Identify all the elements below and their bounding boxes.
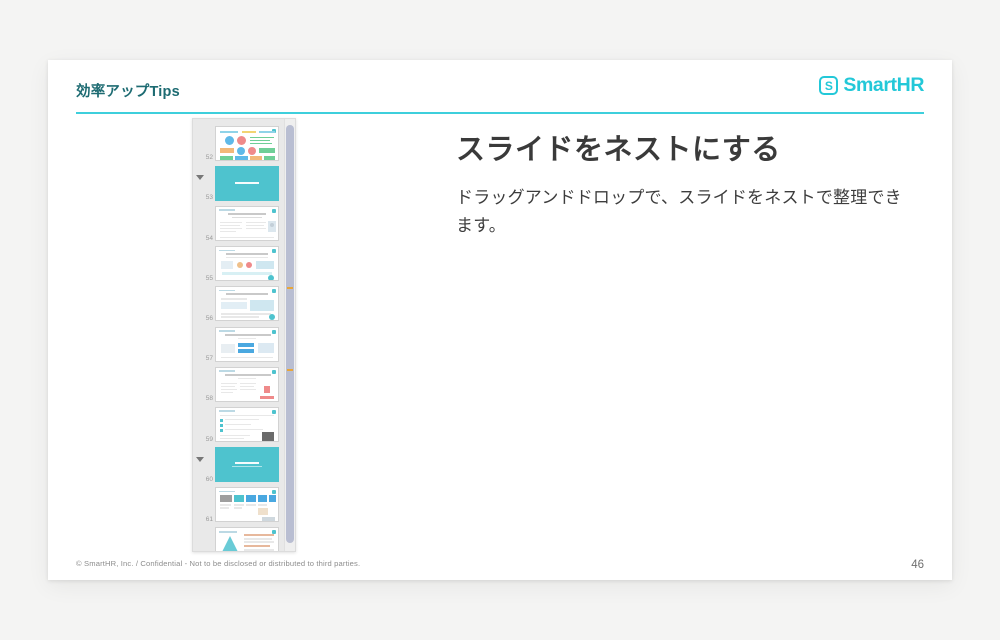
section-title-bar (235, 462, 259, 464)
slide-number: 55 (206, 275, 213, 282)
thumbnail-gutter: 61 (193, 485, 215, 525)
header-divider (76, 112, 924, 114)
thumb-corner-icon (272, 330, 276, 334)
thumbnail-gutter: 62 (193, 525, 215, 552)
slide-header: 効率アップTips S SmartHR (76, 72, 924, 114)
list-item[interactable]: 60 (193, 445, 285, 485)
content-heading: スライドをネストにする (456, 132, 908, 168)
slide-card: 効率アップTips S SmartHR 52 (48, 60, 952, 580)
scroll-marker (287, 369, 293, 371)
slide-thumbnail-section[interactable] (215, 166, 279, 201)
slide-thumbnail[interactable] (215, 487, 279, 522)
slide-number: 57 (206, 355, 213, 362)
footer-page-number: 46 (911, 559, 924, 571)
content-column: スライドをネストにする ドラッグアンドドロップで、スライドをネストで整理できます… (456, 132, 908, 241)
section-title-bar (235, 182, 259, 184)
list-item[interactable]: 54 (193, 203, 285, 243)
scrollbar-track[interactable] (284, 119, 295, 551)
thumbnail-gutter: 59 (193, 404, 215, 444)
slide-number: 56 (206, 315, 213, 322)
list-item[interactable]: 56 (193, 284, 285, 324)
smarthr-logo: S SmartHR (819, 76, 924, 96)
slide-thumbnail[interactable] (215, 527, 279, 552)
slide-thumbnail[interactable] (215, 286, 279, 321)
slide-thumbnail-section[interactable] (215, 447, 279, 482)
slide-number: 60 (206, 476, 213, 483)
thumbnail-gutter: 60 (193, 445, 215, 485)
thumb-corner-icon (272, 249, 276, 253)
slide-thumbnail[interactable] (215, 367, 279, 402)
list-item[interactable]: 52 (193, 123, 285, 163)
collapse-triangle-icon[interactable] (196, 175, 204, 180)
slide-number: 59 (206, 436, 213, 443)
thumbnail-gutter: 52 (193, 123, 215, 163)
slide-thumbnail[interactable] (215, 126, 279, 161)
slide-thumbnail[interactable] (215, 407, 279, 442)
slide-number: 61 (206, 516, 213, 523)
thumbnail-panel-figure: 52 (192, 118, 296, 552)
list-item[interactable]: 55 (193, 244, 285, 284)
list-item[interactable]: 62 (193, 525, 285, 552)
scrollbar-thumb[interactable] (286, 125, 294, 543)
page-title: 効率アップTips (76, 80, 180, 101)
slide-number: 54 (206, 235, 213, 242)
slide-thumbnail[interactable] (215, 327, 279, 362)
pyramid-icon (220, 536, 240, 552)
slide-number: 52 (206, 154, 213, 161)
footer-confidential-note: © SmartHR, Inc. / Confidential - Not to … (76, 559, 360, 568)
thumb-corner-icon (272, 410, 276, 414)
thumbnail-gutter: 58 (193, 364, 215, 404)
thumb-corner-icon (272, 289, 276, 293)
content-paragraph: ドラッグアンドドロップで、スライドをネストで整理できます。 (456, 184, 908, 240)
slide-thumbnail[interactable] (215, 246, 279, 281)
thumbnail-gutter: 53 (193, 163, 215, 203)
list-item[interactable]: 61 (193, 485, 285, 525)
collapse-triangle-icon[interactable] (196, 457, 204, 462)
list-item[interactable]: 57 (193, 324, 285, 364)
smarthr-wordmark: SmartHR (843, 76, 924, 96)
smarthr-mark-icon: S (819, 76, 838, 95)
thumbnail-gutter: 55 (193, 244, 215, 284)
thumb-corner-icon (272, 370, 276, 374)
thumbnail-gutter: 56 (193, 284, 215, 324)
thumbnail-gutter: 57 (193, 324, 215, 364)
thumb-corner-icon (272, 209, 276, 213)
list-item[interactable]: 53 (193, 163, 285, 203)
slide-number: 53 (206, 194, 213, 201)
list-item[interactable]: 58 (193, 364, 285, 404)
list-item[interactable]: 59 (193, 404, 285, 444)
thumbnail-gutter: 54 (193, 203, 215, 243)
page-root: 効率アップTips S SmartHR 52 (0, 0, 1000, 640)
slide-thumbnail[interactable] (215, 206, 279, 241)
thumbnail-list: 52 (193, 119, 285, 551)
scroll-marker (287, 287, 293, 289)
section-subtitle-bar (232, 466, 262, 467)
thumb-corner-icon (272, 490, 276, 494)
slide-number: 58 (206, 395, 213, 402)
